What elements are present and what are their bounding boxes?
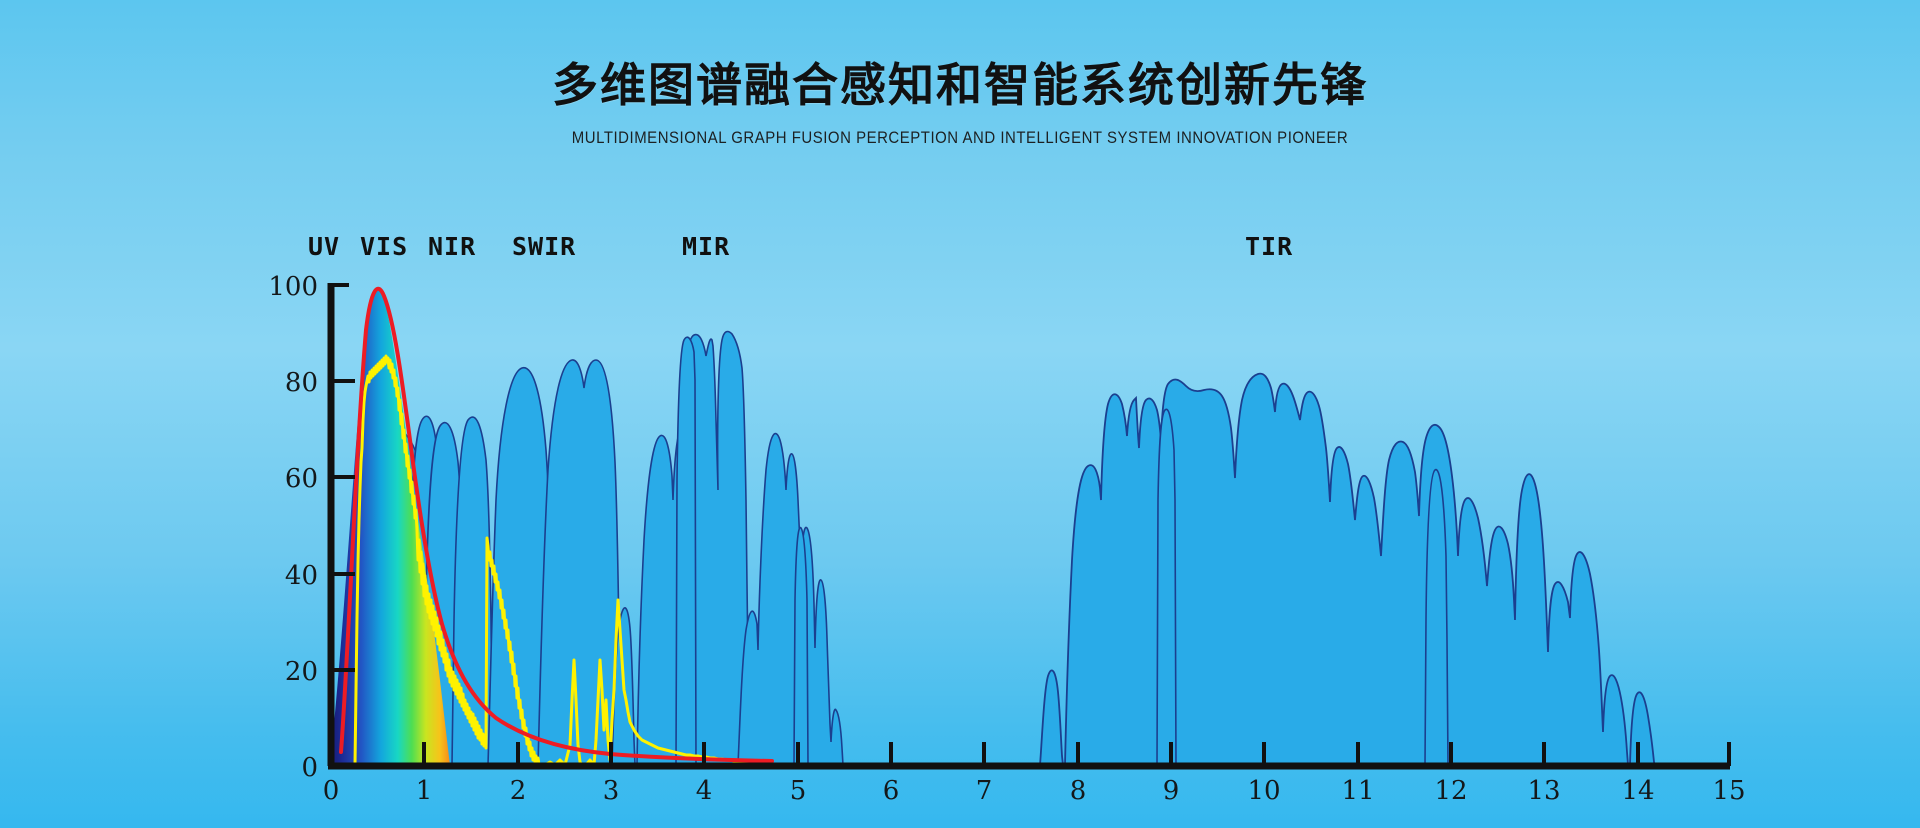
x-tick-10: 10 bbox=[1247, 776, 1280, 806]
band-label-uv: UV bbox=[308, 232, 340, 261]
band-label-group: UV VIS NIR SWIR MIR TIR bbox=[308, 232, 1293, 261]
x-tick-7: 7 bbox=[976, 776, 993, 806]
y-tick-60: 60 bbox=[285, 464, 318, 494]
x-tick-2: 2 bbox=[510, 776, 527, 806]
x-tick-15: 15 bbox=[1712, 776, 1745, 806]
x-tick-0: 0 bbox=[323, 776, 340, 806]
band-label-tir: TIR bbox=[1245, 232, 1293, 261]
band-label-swir: SWIR bbox=[512, 232, 576, 261]
band-label-mir: MIR bbox=[682, 232, 730, 261]
x-tick-13: 13 bbox=[1527, 776, 1560, 806]
y-tick-100: 100 bbox=[268, 272, 318, 302]
y-tick-80: 80 bbox=[285, 368, 318, 398]
x-tick-1: 1 bbox=[416, 776, 433, 806]
transmission-notch-mir1 bbox=[676, 337, 696, 765]
x-tick-3: 3 bbox=[603, 776, 620, 806]
x-tick-4: 4 bbox=[696, 776, 713, 806]
x-tick-6: 6 bbox=[883, 776, 900, 806]
transmission-window-tir bbox=[1040, 374, 1655, 765]
transmission-window-swir2 bbox=[538, 360, 621, 765]
transmission-area-group bbox=[342, 332, 1655, 765]
y-tick-20: 20 bbox=[285, 657, 318, 687]
transmission-notch-tir-1 bbox=[1157, 409, 1176, 765]
x-tick-12: 12 bbox=[1434, 776, 1467, 806]
x-tick-9: 9 bbox=[1163, 776, 1180, 806]
band-label-vis: VIS bbox=[360, 232, 408, 261]
x-tick-5: 5 bbox=[790, 776, 807, 806]
y-tick-40: 40 bbox=[285, 561, 318, 591]
y-tick-0: 0 bbox=[301, 753, 318, 783]
x-tick-labels: 0 1 2 3 4 5 6 7 8 9 10 11 12 13 14 15 bbox=[323, 776, 1746, 806]
transmission-notch-mir2 bbox=[794, 528, 808, 765]
y-tick-labels: 0 20 40 60 80 100 bbox=[268, 272, 318, 783]
band-label-nir: NIR bbox=[428, 232, 476, 261]
x-tick-11: 11 bbox=[1341, 776, 1374, 806]
x-tick-14: 14 bbox=[1621, 776, 1654, 806]
x-tick-8: 8 bbox=[1070, 776, 1087, 806]
spectral-chart: UV VIS NIR SWIR MIR TIR bbox=[0, 0, 1920, 828]
transmission-notch-tir-2 bbox=[1425, 470, 1448, 765]
transmission-window-mir2 bbox=[738, 434, 843, 765]
chart-root: 多维图谱融合感知和智能系统创新先锋 MULTIDIMENSIONAL GRAPH… bbox=[0, 0, 1920, 828]
